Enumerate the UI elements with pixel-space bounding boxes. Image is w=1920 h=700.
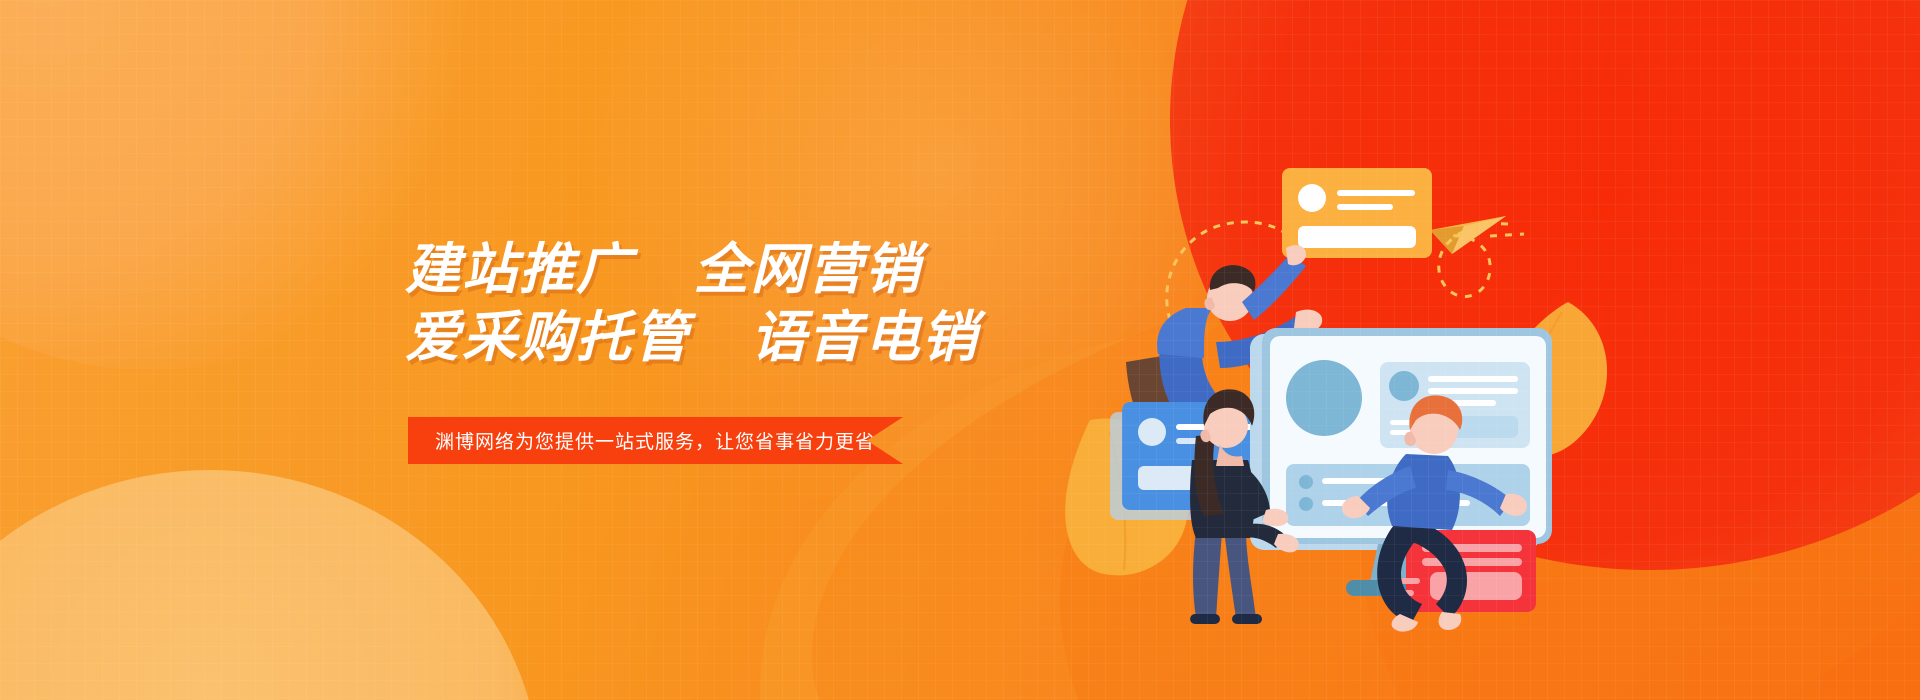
avatar-icon xyxy=(1138,418,1166,446)
headline-part-1: 建站推广 xyxy=(405,238,633,300)
avatar-icon xyxy=(1298,184,1326,212)
headline-part-3: 爱采购托管 xyxy=(405,306,690,368)
tagline-text: 渊博网络为您提供一站式服务，让您省事省力更省心 xyxy=(408,427,895,454)
headline-part-2: 全网营销 xyxy=(694,238,922,300)
promo-banner: 建站推广 全网营销 爱采购托管 语音电销 渊博网络为您提供一站式服务，让您省事省… xyxy=(0,0,1920,700)
dashed-tail-icon xyxy=(1490,234,1524,236)
headline-part-4: 语音电销 xyxy=(751,306,979,368)
headline-line-1: 建站推广 全网营销 xyxy=(405,235,965,303)
avatar-icon xyxy=(1286,360,1362,436)
copy-block: 建站推广 全网营销 爱采购托管 语音电销 xyxy=(405,235,965,371)
hand-icon xyxy=(1286,245,1306,265)
tagline-ribbon: 渊博网络为您提供一站式服务，让您省事省力更省心 xyxy=(408,417,903,464)
card-yellow xyxy=(1282,168,1432,258)
hand-icon xyxy=(1262,509,1288,527)
headline-line-2: 爱采购托管 语音电销 xyxy=(405,303,965,371)
blob-bottom-left xyxy=(0,470,540,700)
avatar-icon xyxy=(1389,371,1419,401)
hero-illustration xyxy=(1100,130,1620,610)
